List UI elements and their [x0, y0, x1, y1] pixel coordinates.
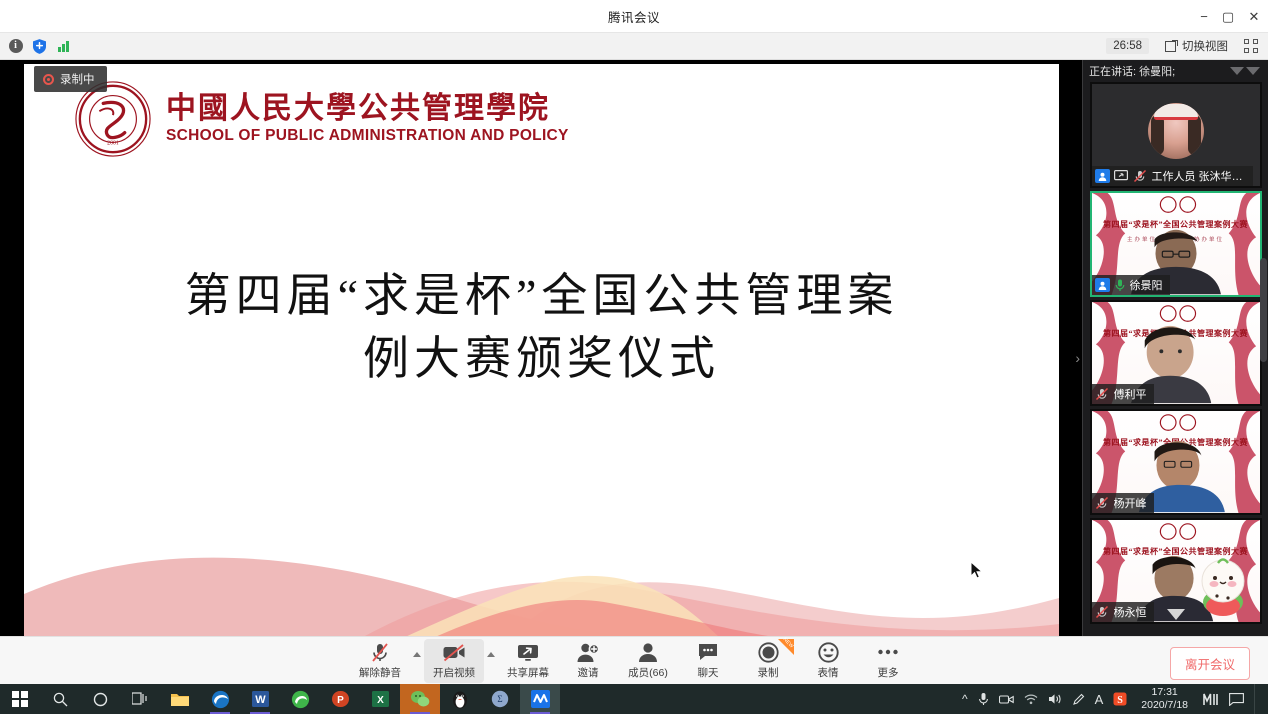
shared-screen-stage: 录制中 2001 中國人民大學公共管理學院 SCHOOL OF PUBLIC A… — [0, 60, 1082, 636]
action-center-icon[interactable] — [1229, 693, 1244, 706]
info-icon[interactable]: i — [6, 37, 25, 56]
share-screen-icon — [516, 642, 540, 663]
switch-view-icon — [1165, 40, 1178, 52]
mic-muted-icon — [1095, 605, 1110, 620]
wechat-app[interactable] — [400, 684, 440, 714]
speaking-now-row: 正在讲话: 徐曼阳; — [1083, 60, 1268, 82]
tile-label-text: 徐景阳 — [1130, 277, 1163, 293]
avatar — [1148, 103, 1204, 159]
tile-label-text: 杨永恒 — [1114, 604, 1147, 620]
school-name-en: SCHOOL OF PUBLIC ADMINISTRATION AND POLI… — [166, 127, 569, 145]
decorative-waves — [24, 532, 1059, 642]
sidebar-collapse-handle[interactable]: › — [1075, 350, 1080, 366]
tencent-meeting-window: 腾讯会议 − ▢ ✕ i 26:58 切换视图 — [0, 0, 1268, 714]
emoji-icon — [818, 642, 839, 663]
fullscreen-icon[interactable] — [1244, 39, 1258, 53]
video-tile[interactable]: 第四届“求是杯”全国公共管理案例大赛 主办单位 承办单位 协办单位 — [1090, 191, 1262, 297]
browser-360[interactable] — [280, 684, 320, 714]
video-button[interactable]: 开启视频 — [424, 639, 484, 683]
members-label: 成员(66) — [628, 665, 668, 680]
svg-text:P: P — [337, 695, 344, 706]
slide-title-line1: 第四届“求是杯”全国公共管理案 — [139, 264, 944, 327]
school-logo: 2001 中國人民大學公共管理學院 SCHOOL OF PUBLIC ADMIN… — [74, 80, 569, 158]
mic-muted-icon — [1095, 496, 1110, 511]
video-button-label: 开启视频 — [433, 665, 475, 680]
screen-share-icon — [1114, 170, 1129, 183]
excel-app[interactable]: X — [360, 684, 400, 714]
tile-label: 工作人员 张沐华的屏幕共享 — [1092, 166, 1253, 186]
powerpoint-app[interactable]: P — [320, 684, 360, 714]
video-options-caret[interactable] — [484, 639, 498, 683]
mathtype-tray-icon[interactable] — [1202, 692, 1219, 707]
meeting-control-bar: 解除静音 开启视频 共享屏幕 邀请 — [0, 636, 1268, 684]
mic-active-icon — [1114, 278, 1126, 293]
toolbar-right-group: 26:58 切换视图 — [1106, 36, 1268, 56]
emoji-label: 表情 — [818, 665, 839, 680]
tile-label: 傅利平 — [1092, 384, 1154, 404]
members-button[interactable]: 成员(66) — [618, 639, 678, 683]
video-tile[interactable]: 第四届“求是杯”全国公共管理案例大赛 杨开峰 — [1090, 409, 1262, 515]
tile-label: 徐景阳 — [1092, 275, 1170, 295]
members-icon — [637, 642, 659, 663]
mute-button-label: 解除静音 — [359, 665, 401, 680]
edge-browser[interactable] — [200, 684, 240, 714]
maximize-button[interactable]: ▢ — [1216, 0, 1240, 33]
record-icon — [758, 642, 779, 663]
cortana-button[interactable] — [80, 684, 120, 714]
meeting-toolbar: i 26:58 切换视图 — [0, 33, 1268, 60]
switch-view-label: 切换视图 — [1182, 38, 1228, 54]
more-label: 更多 — [878, 665, 899, 680]
sidebar-scrollbar[interactable] — [1260, 82, 1267, 636]
record-dot-icon — [43, 74, 54, 85]
volume-icon[interactable] — [1048, 693, 1062, 705]
mic-muted-icon — [1133, 169, 1148, 184]
leave-meeting-button[interactable]: 离开会议 — [1170, 647, 1250, 680]
invite-icon — [577, 642, 599, 663]
record-label: 录制 — [758, 665, 779, 680]
window-titlebar: 腾讯会议 − ▢ ✕ — [0, 0, 1268, 33]
cartoon-sticker-icon — [1192, 554, 1254, 616]
chat-label: 聊天 — [698, 665, 719, 680]
share-screen-label: 共享屏幕 — [507, 665, 549, 680]
video-tile[interactable]: 第四届“求是杯”全国公共管理案例大赛 — [1090, 518, 1262, 624]
window-title: 腾讯会议 — [608, 7, 660, 26]
meeting-timer: 26:58 — [1106, 38, 1149, 54]
control-buttons: 解除静音 开启视频 共享屏幕 邀请 — [350, 639, 918, 683]
tencent-meeting-app[interactable] — [520, 684, 560, 714]
sogou-icon[interactable]: S — [1113, 692, 1127, 706]
svg-text:S: S — [1118, 695, 1124, 706]
school-name-cn: 中國人民大學公共管理學院 — [166, 93, 569, 125]
file-explorer[interactable] — [160, 684, 200, 714]
mic-options-caret[interactable] — [410, 639, 424, 683]
participant-sidebar: 正在讲话: 徐曼阳; — [1082, 60, 1268, 636]
sidebar-scrollbar-thumb[interactable] — [1260, 258, 1267, 362]
tray-chevron-icon[interactable]: ^ — [962, 692, 968, 706]
video-tile-list: 工作人员 张沐华的屏幕共享 第四届“求是杯”全国公共管理案例大赛 主办单位 承办… — [1083, 82, 1268, 624]
mathtype-app[interactable]: Σ — [480, 684, 520, 714]
speaking-now-label: 正在讲话: 徐曼阳; — [1089, 63, 1175, 79]
presentation-slide: 录制中 2001 中國人民大學公共管理學院 SCHOOL OF PUBLIC A… — [24, 64, 1059, 642]
taskbar-clock[interactable]: 17:31 2020/7/18 — [1137, 686, 1192, 712]
mic-icon[interactable] — [978, 692, 989, 706]
video-tile[interactable]: 第四届“求是杯”全国公共管理案例大赛 傅利平 — [1090, 300, 1262, 406]
pen-icon[interactable] — [1072, 693, 1085, 706]
toolbar-left-icons: i — [0, 37, 73, 56]
recording-indicator: 录制中 — [34, 66, 107, 92]
task-view-button[interactable] — [120, 684, 160, 714]
mic-off-icon — [370, 642, 390, 663]
emoji-button[interactable]: 表情 — [798, 639, 858, 683]
clock-date: 2020/7/18 — [1141, 699, 1188, 712]
switch-view-button[interactable]: 切换视图 — [1159, 36, 1234, 56]
mouse-cursor — [970, 561, 984, 581]
wifi-icon[interactable] — [1024, 694, 1038, 705]
clock-time: 17:31 — [1152, 686, 1178, 699]
svg-text:2001: 2001 — [107, 140, 119, 146]
windows-taskbar: W P X Σ ^ — [0, 684, 1268, 714]
sidebar-chevrons-icon[interactable] — [1230, 67, 1260, 75]
minimize-button[interactable]: − — [1192, 0, 1216, 33]
scroll-down-arrow-icon[interactable] — [1167, 609, 1185, 620]
recording-label: 录制中 — [60, 71, 95, 87]
tile-label: 杨永恒 — [1092, 602, 1154, 622]
tile-label-text: 杨开峰 — [1114, 495, 1147, 511]
camera-icon[interactable] — [999, 694, 1014, 705]
video-off-icon — [442, 642, 466, 663]
chat-button[interactable]: 聊天 — [678, 639, 738, 683]
qq-app[interactable] — [440, 684, 480, 714]
svg-text:W: W — [255, 694, 266, 706]
school-logo-text: 中國人民大學公共管理學院 SCHOOL OF PUBLIC ADMINISTRA… — [166, 93, 569, 146]
slide-title: 第四届“求是杯”全国公共管理案 例大赛颁奖仪式 — [24, 264, 1059, 391]
tile-label-text: 傅利平 — [1114, 386, 1147, 402]
person-icon — [1095, 278, 1110, 292]
chat-icon — [697, 642, 719, 663]
share-screen-button[interactable]: 共享屏幕 — [498, 639, 558, 683]
person-icon — [1095, 169, 1110, 183]
video-tile[interactable]: 工作人员 张沐华的屏幕共享 — [1090, 82, 1262, 188]
word-app[interactable]: W — [240, 684, 280, 714]
tile-label-text: 工作人员 张沐华的屏幕共享 — [1152, 168, 1246, 184]
tile-label: 杨开峰 — [1092, 493, 1154, 513]
slide-title-line2: 例大赛颁奖仪式 — [139, 327, 944, 390]
record-button[interactable]: 录制 NEW — [738, 639, 798, 683]
shield-icon[interactable] — [30, 37, 49, 56]
svg-text:Σ: Σ — [497, 694, 502, 704]
start-button[interactable] — [0, 684, 40, 714]
search-button[interactable] — [40, 684, 80, 714]
invite-button[interactable]: 邀请 — [558, 639, 618, 683]
invite-label: 邀请 — [578, 665, 599, 680]
window-controls: − ▢ ✕ — [1192, 0, 1268, 33]
svg-text:X: X — [377, 695, 384, 706]
signal-strength-icon[interactable] — [54, 37, 73, 56]
mute-button[interactable]: 解除静音 — [350, 639, 410, 683]
show-desktop-button[interactable] — [1254, 684, 1264, 714]
more-icon — [877, 642, 899, 663]
more-button[interactable]: 更多 — [858, 639, 918, 683]
system-tray: ^ A S 17:31 2020/7/18 — [962, 684, 1268, 714]
mic-muted-icon — [1095, 387, 1110, 402]
ime-icon[interactable]: A — [1095, 692, 1104, 707]
close-button[interactable]: ✕ — [1240, 0, 1268, 33]
